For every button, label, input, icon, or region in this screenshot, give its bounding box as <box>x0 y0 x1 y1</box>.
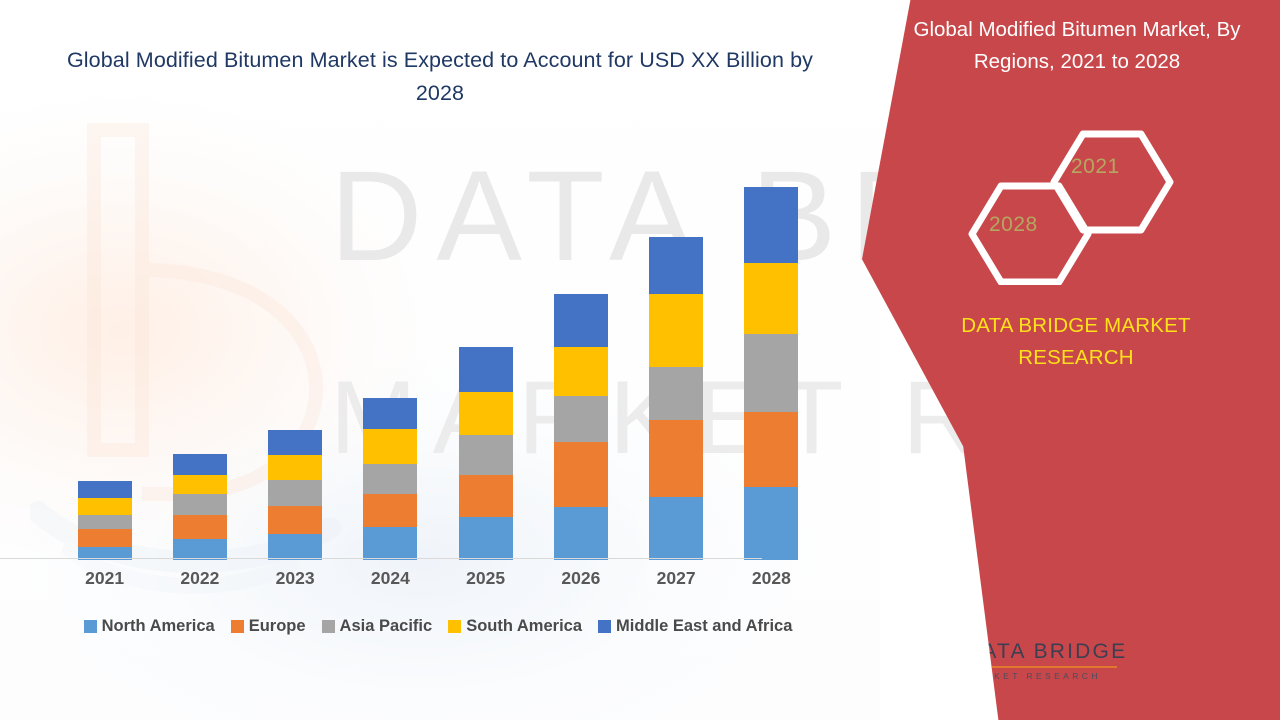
legend-item[interactable]: Asia Pacific <box>322 617 433 636</box>
stacked-bar <box>649 237 703 560</box>
bar-segment <box>268 430 322 455</box>
bar-column <box>343 161 438 560</box>
legend-item[interactable]: Europe <box>231 617 306 636</box>
x-axis-tick-label: 2021 <box>57 568 152 589</box>
stacked-bar <box>459 347 513 560</box>
bar-segment <box>268 506 322 534</box>
bar-segment <box>744 187 798 263</box>
stacked-bar <box>173 454 227 560</box>
hexagon-2021-label: 2021 <box>1071 155 1120 179</box>
bar-segment <box>173 539 227 560</box>
stacked-bar-plot <box>57 161 819 560</box>
bar-segment <box>744 412 798 487</box>
legend-label: Asia Pacific <box>340 617 433 636</box>
bar-segment <box>744 263 798 334</box>
bar-segment <box>268 480 322 506</box>
bar-segment <box>459 475 513 517</box>
bar-segment <box>363 494 417 527</box>
chart-legend: North AmericaEuropeAsia PacificSouth Ame… <box>57 617 819 636</box>
legend-swatch-icon <box>84 620 97 633</box>
bar-segment <box>554 442 608 507</box>
hexagon-badges: 2021 2028 <box>965 120 1180 285</box>
brand-line-1: DATA BRIDGE MARKET <box>872 310 1280 342</box>
bar-segment <box>78 529 132 547</box>
bar-segment <box>649 497 703 560</box>
x-axis-labels: 20212022202320242025202620272028 <box>57 568 819 589</box>
bar-segment <box>173 454 227 475</box>
bar-segment <box>649 294 703 367</box>
bar-segment <box>268 534 322 560</box>
chart-area <box>57 160 819 560</box>
legend-label: Europe <box>249 617 306 636</box>
bar-segment <box>554 507 608 560</box>
brand-line-2: RESEARCH <box>872 342 1280 374</box>
bar-column <box>533 161 628 560</box>
bar-segment <box>459 392 513 435</box>
stacked-bar <box>268 430 322 560</box>
bar-column <box>57 161 152 560</box>
infographic-root: DATA BRIDGE MARKET RESEARCH Global Modif… <box>0 0 1280 720</box>
brand-name: DATA BRIDGE MARKET RESEARCH <box>840 310 1280 374</box>
bar-segment <box>649 420 703 497</box>
bar-segment <box>554 347 608 396</box>
legend-label: North America <box>102 617 215 636</box>
bar-column <box>629 161 724 560</box>
bar-segment <box>78 481 132 498</box>
stacked-bar <box>78 481 132 560</box>
x-axis-line <box>0 558 762 559</box>
legend-swatch-icon <box>598 620 611 633</box>
chart-title: Global Modified Bitumen Market is Expect… <box>60 44 820 109</box>
bar-column <box>248 161 343 560</box>
legend-label: Middle East and Africa <box>616 617 792 636</box>
bar-segment <box>173 475 227 494</box>
legend-swatch-icon <box>448 620 461 633</box>
stacked-bar <box>554 294 608 560</box>
bar-segment <box>78 515 132 529</box>
x-axis-tick-label: 2026 <box>533 568 628 589</box>
bar-column <box>724 161 819 560</box>
legend-item[interactable]: Middle East and Africa <box>598 617 792 636</box>
panel-title: Global Modified Bitumen Market, By Regio… <box>840 14 1280 78</box>
bar-segment <box>649 367 703 420</box>
bar-segment <box>78 498 132 515</box>
bar-segment <box>744 487 798 560</box>
bar-segment <box>363 429 417 464</box>
x-axis-tick-label: 2022 <box>152 568 247 589</box>
hexagon-2021-shape <box>1054 134 1170 230</box>
legend-swatch-icon <box>322 620 335 633</box>
x-axis-tick-label: 2028 <box>724 568 819 589</box>
x-axis-tick-label: 2024 <box>343 568 438 589</box>
bar-segment <box>554 396 608 442</box>
logo-divider <box>965 666 1117 668</box>
right-red-panel: Global Modified Bitumen Market, By Regio… <box>840 0 1280 720</box>
x-axis-tick-label: 2027 <box>629 568 724 589</box>
legend-label: South America <box>466 617 582 636</box>
company-logo: DATA BRIDGE MARKET RESEARCH <box>865 624 1125 710</box>
bar-segment <box>363 464 417 494</box>
bar-segment <box>554 294 608 347</box>
x-axis-tick-label: 2025 <box>438 568 533 589</box>
bar-segment <box>459 517 513 560</box>
bar-column <box>152 161 247 560</box>
x-axis-tick-label: 2023 <box>248 568 343 589</box>
hexagon-2028-label: 2028 <box>989 213 1038 237</box>
logo-tagline: MARKET RESEARCH <box>965 672 1125 681</box>
bar-segment <box>363 398 417 429</box>
bar-segment <box>459 435 513 475</box>
bar-segment <box>268 455 322 480</box>
legend-item[interactable]: South America <box>448 617 582 636</box>
bar-segment <box>744 334 798 412</box>
bar-segment <box>459 347 513 392</box>
bar-segment <box>363 527 417 560</box>
legend-item[interactable]: North America <box>84 617 215 636</box>
logo-name: DATA BRIDGE <box>965 640 1125 663</box>
bar-segment <box>649 237 703 294</box>
legend-swatch-icon <box>231 620 244 633</box>
stacked-bar <box>363 398 417 560</box>
logo-wordmark: DATA BRIDGE MARKET RESEARCH <box>965 640 1125 681</box>
bar-segment <box>173 515 227 539</box>
logo-mark-icon <box>865 624 965 710</box>
stacked-bar <box>744 187 798 560</box>
bar-segment <box>173 494 227 515</box>
bar-column <box>438 161 533 560</box>
